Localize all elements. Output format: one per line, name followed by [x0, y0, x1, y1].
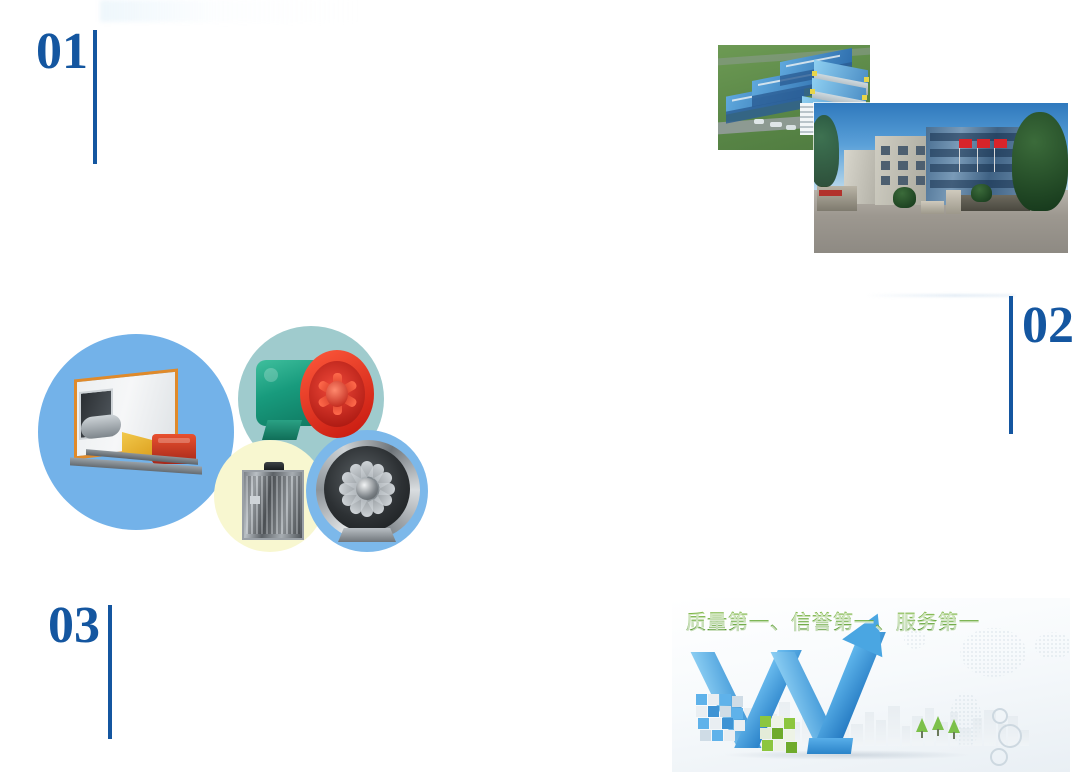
- product-aluminum-turbo-fan: [316, 440, 420, 544]
- render-vehicle-3: [786, 125, 796, 130]
- box-fan-impeller: [81, 414, 121, 440]
- office-building-photo-image: [814, 103, 1068, 253]
- product-air-filter-box: [230, 460, 316, 546]
- photo-gate-barrier: [921, 201, 944, 215]
- growth-arrow-banner-image: 质量第一、信誉第一、服务第一: [672, 598, 1070, 772]
- filter-box-media: [246, 476, 300, 534]
- photo-tree-right: [1012, 112, 1068, 211]
- axial-fan-mounting-foot: [262, 420, 302, 440]
- section-number-03: 03: [48, 600, 100, 652]
- photo-gate-pillar: [946, 190, 961, 214]
- turbo-fan-hub: [356, 478, 378, 500]
- section-rule-03: [108, 605, 112, 739]
- axial-fan-impeller-ring: [300, 350, 374, 438]
- arrow-valley-connector: [807, 738, 853, 754]
- faint-artifact-top-left: [100, 0, 360, 22]
- section-rule-01: [93, 30, 97, 164]
- render-vehicle-2: [770, 122, 782, 127]
- section-number-01: 01: [36, 26, 88, 78]
- photo-flag-3: [994, 139, 1007, 148]
- page-canvas: 01: [0, 0, 1074, 772]
- render-vehicle-1: [754, 119, 764, 124]
- photo-flag-1: [959, 139, 972, 148]
- banner-slogan: 质量第一、信誉第一、服务第一: [686, 606, 980, 635]
- faint-artifact-mid-right: [865, 294, 1015, 297]
- turbo-fan-foot: [338, 528, 396, 542]
- section-number-02: 02: [1022, 300, 1074, 352]
- section-rule-02: [1009, 296, 1013, 434]
- product-collage-image: [34, 322, 426, 550]
- product-axial-flow-fan: [256, 346, 376, 452]
- photo-flag-2: [977, 139, 990, 148]
- photo-red-sign: [819, 190, 842, 196]
- photo-shrub-1: [893, 187, 916, 208]
- product-box-type-centrifugal-fan-unit: [60, 370, 210, 482]
- axial-fan-hub: [326, 381, 348, 407]
- filter-box-label: [250, 496, 260, 504]
- photo-shrub-2: [971, 184, 991, 202]
- turbo-fan-inner: [324, 446, 410, 532]
- growth-arrow-graphic: [708, 646, 948, 758]
